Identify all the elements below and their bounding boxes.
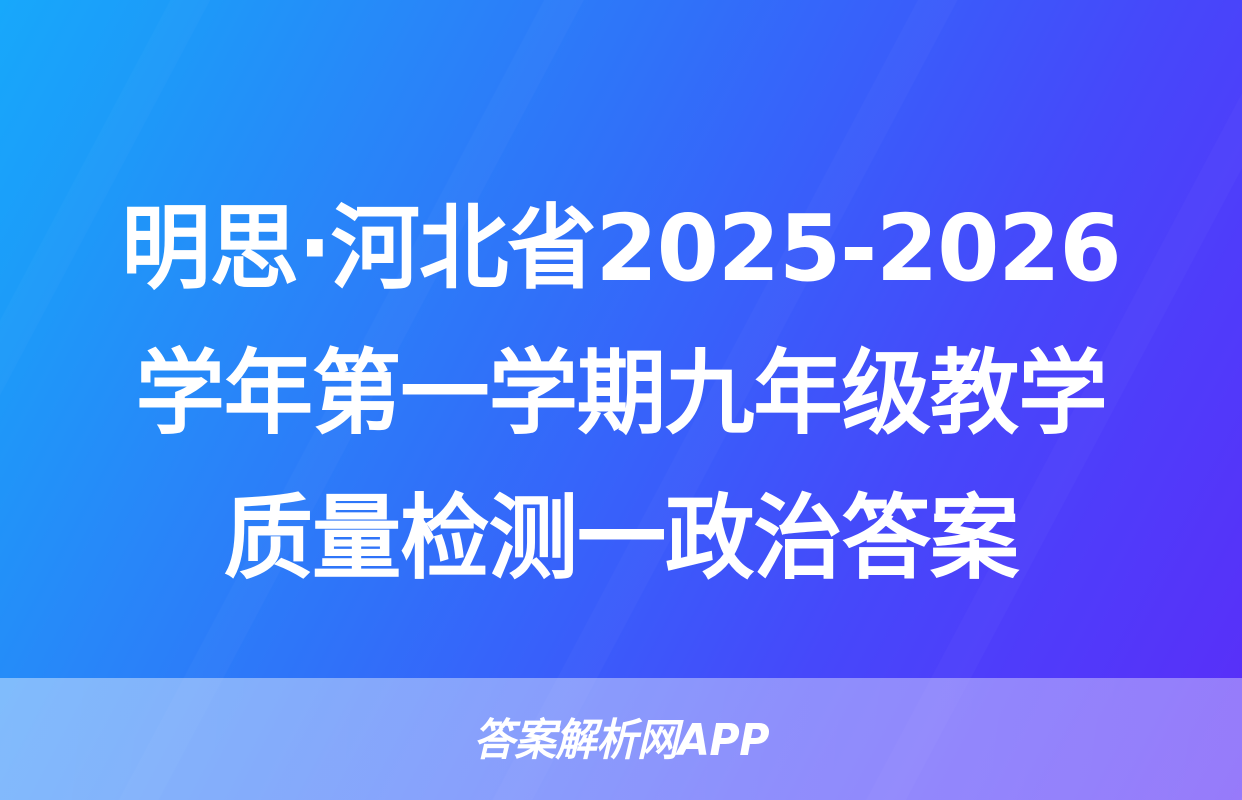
watermark-band: 答案解析网APP [0, 678, 1242, 800]
title-line-3: 质量检测一政治答案 [19, 466, 1224, 611]
title-line-1: 明思·河北省2025-2026 [19, 176, 1224, 321]
watermark-label: 答案解析网APP [473, 719, 769, 763]
title-line-2: 学年第一学期九年级教学 [19, 321, 1224, 466]
page-title: 明思·河北省2025-2026 学年第一学期九年级教学 质量检测一政治答案 [0, 176, 1242, 611]
cover-card: 明思·河北省2025-2026 学年第一学期九年级教学 质量检测一政治答案 答案… [0, 0, 1242, 800]
